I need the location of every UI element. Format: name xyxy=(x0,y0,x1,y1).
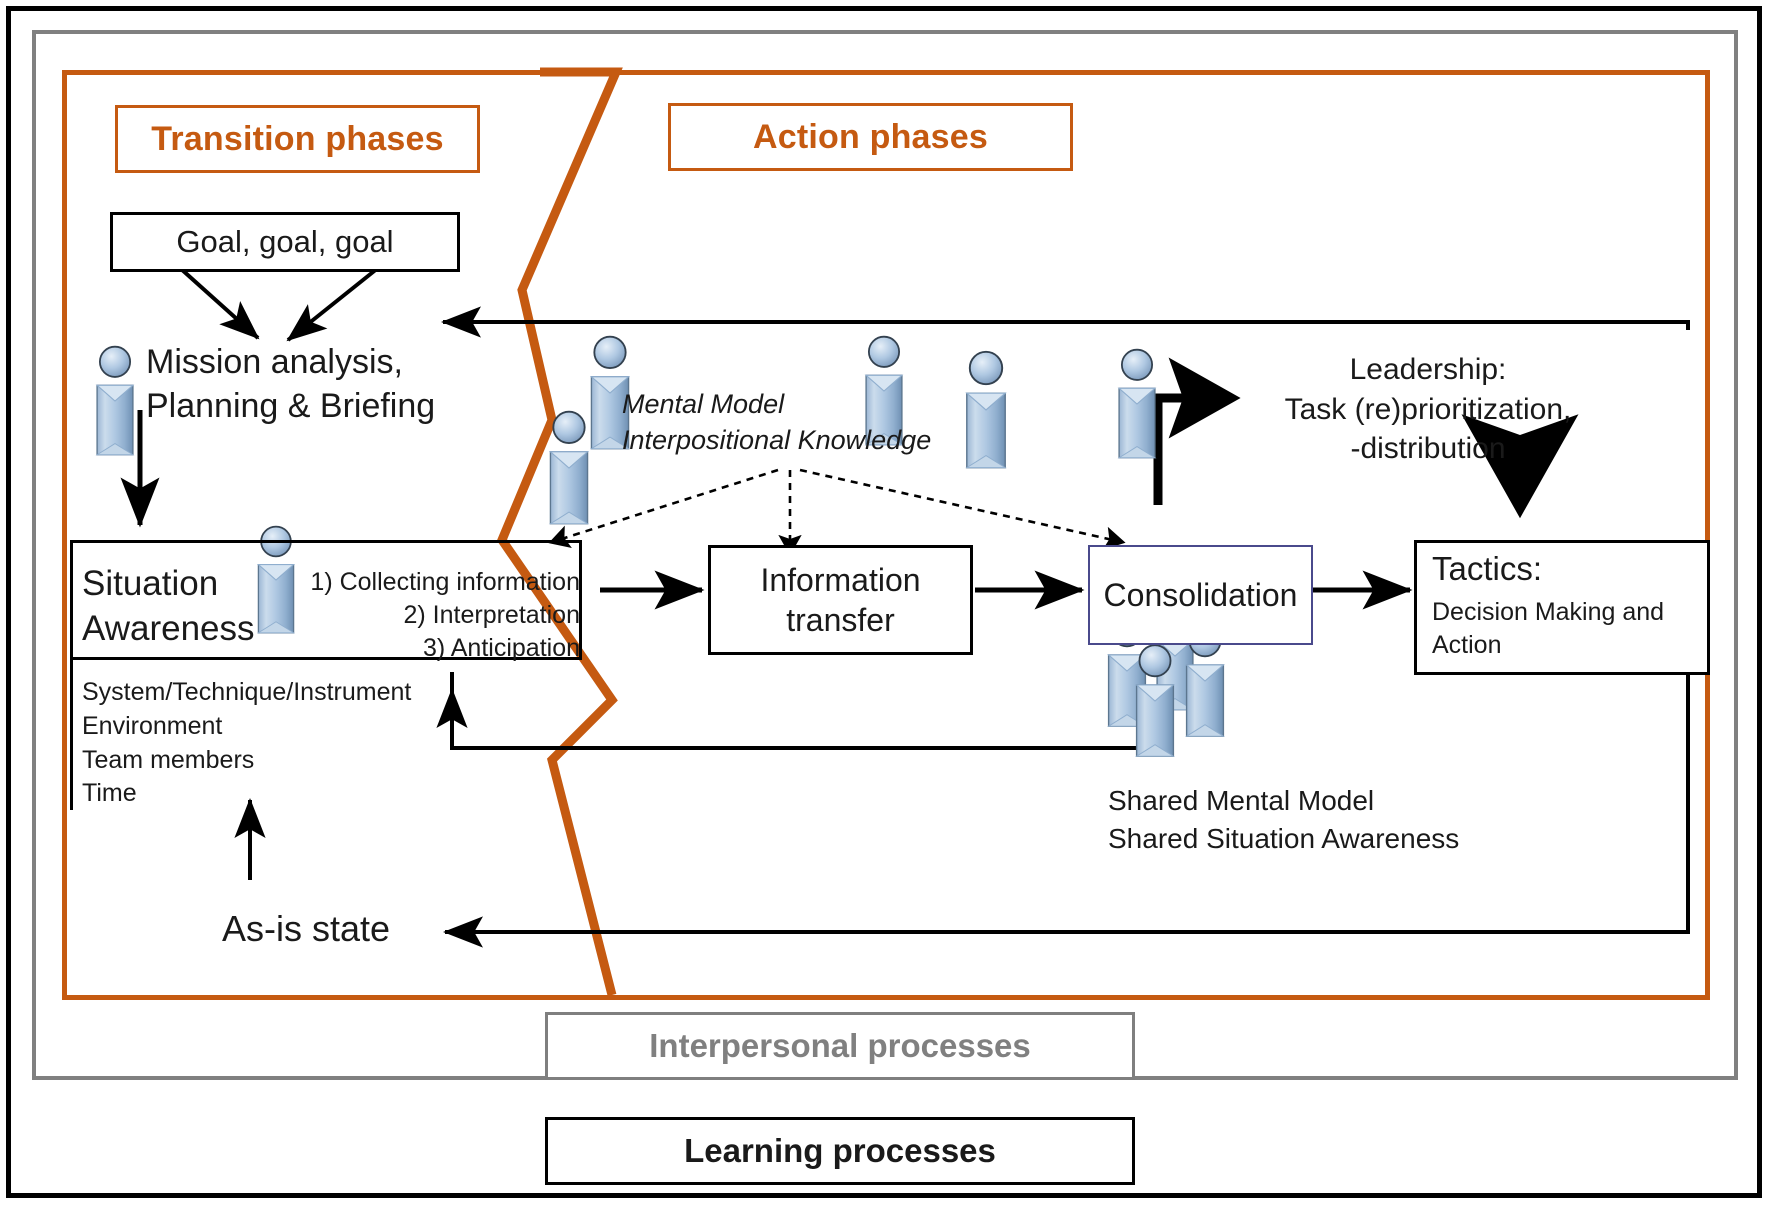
mental-model-label: Mental Model Interpositional Knowledge xyxy=(622,386,962,459)
learning-processes-label: Learning processes xyxy=(684,1132,996,1170)
consolidation-box: Consolidation xyxy=(1088,545,1313,645)
leadership-label: Leadership: Task (re)prioritization, -di… xyxy=(1258,350,1598,469)
information-transfer-box: Information transfer xyxy=(708,545,973,655)
sa-sources-list: System/Technique/Instrument Environment … xyxy=(82,676,502,811)
mission-analysis-label: Mission analysis, Planning & Briefing xyxy=(146,340,486,428)
information-transfer-label: Information transfer xyxy=(760,560,920,640)
shared-mental-model-label: Shared Mental Model Shared Situation Awa… xyxy=(1108,782,1538,858)
diagram-canvas: Transition phases Action phases Goal, go… xyxy=(0,0,1772,1207)
interpersonal-processes-bar: Interpersonal processes xyxy=(545,1012,1135,1080)
situation-awareness-label: Situation Awareness xyxy=(82,562,312,652)
phase-label-transition-text: Transition phases xyxy=(151,120,443,159)
interpersonal-processes-label: Interpersonal processes xyxy=(649,1027,1031,1065)
as-is-state-label: As-is state xyxy=(222,908,542,950)
orange-frame xyxy=(62,70,1710,1000)
phase-label-action: Action phases xyxy=(668,103,1073,171)
goal-box-label: Goal, goal, goal xyxy=(176,224,393,260)
phase-label-action-text: Action phases xyxy=(753,118,988,157)
tactics-body: Decision Making and Action xyxy=(1432,596,1707,661)
tactics-title: Tactics: xyxy=(1432,550,1702,589)
goal-box: Goal, goal, goal xyxy=(110,212,460,272)
sa-steps-list: 1) Collecting information 2) Interpretat… xyxy=(280,566,580,665)
consolidation-label: Consolidation xyxy=(1104,577,1298,614)
learning-processes-bar: Learning processes xyxy=(545,1117,1135,1185)
phase-label-transition: Transition phases xyxy=(115,105,480,173)
